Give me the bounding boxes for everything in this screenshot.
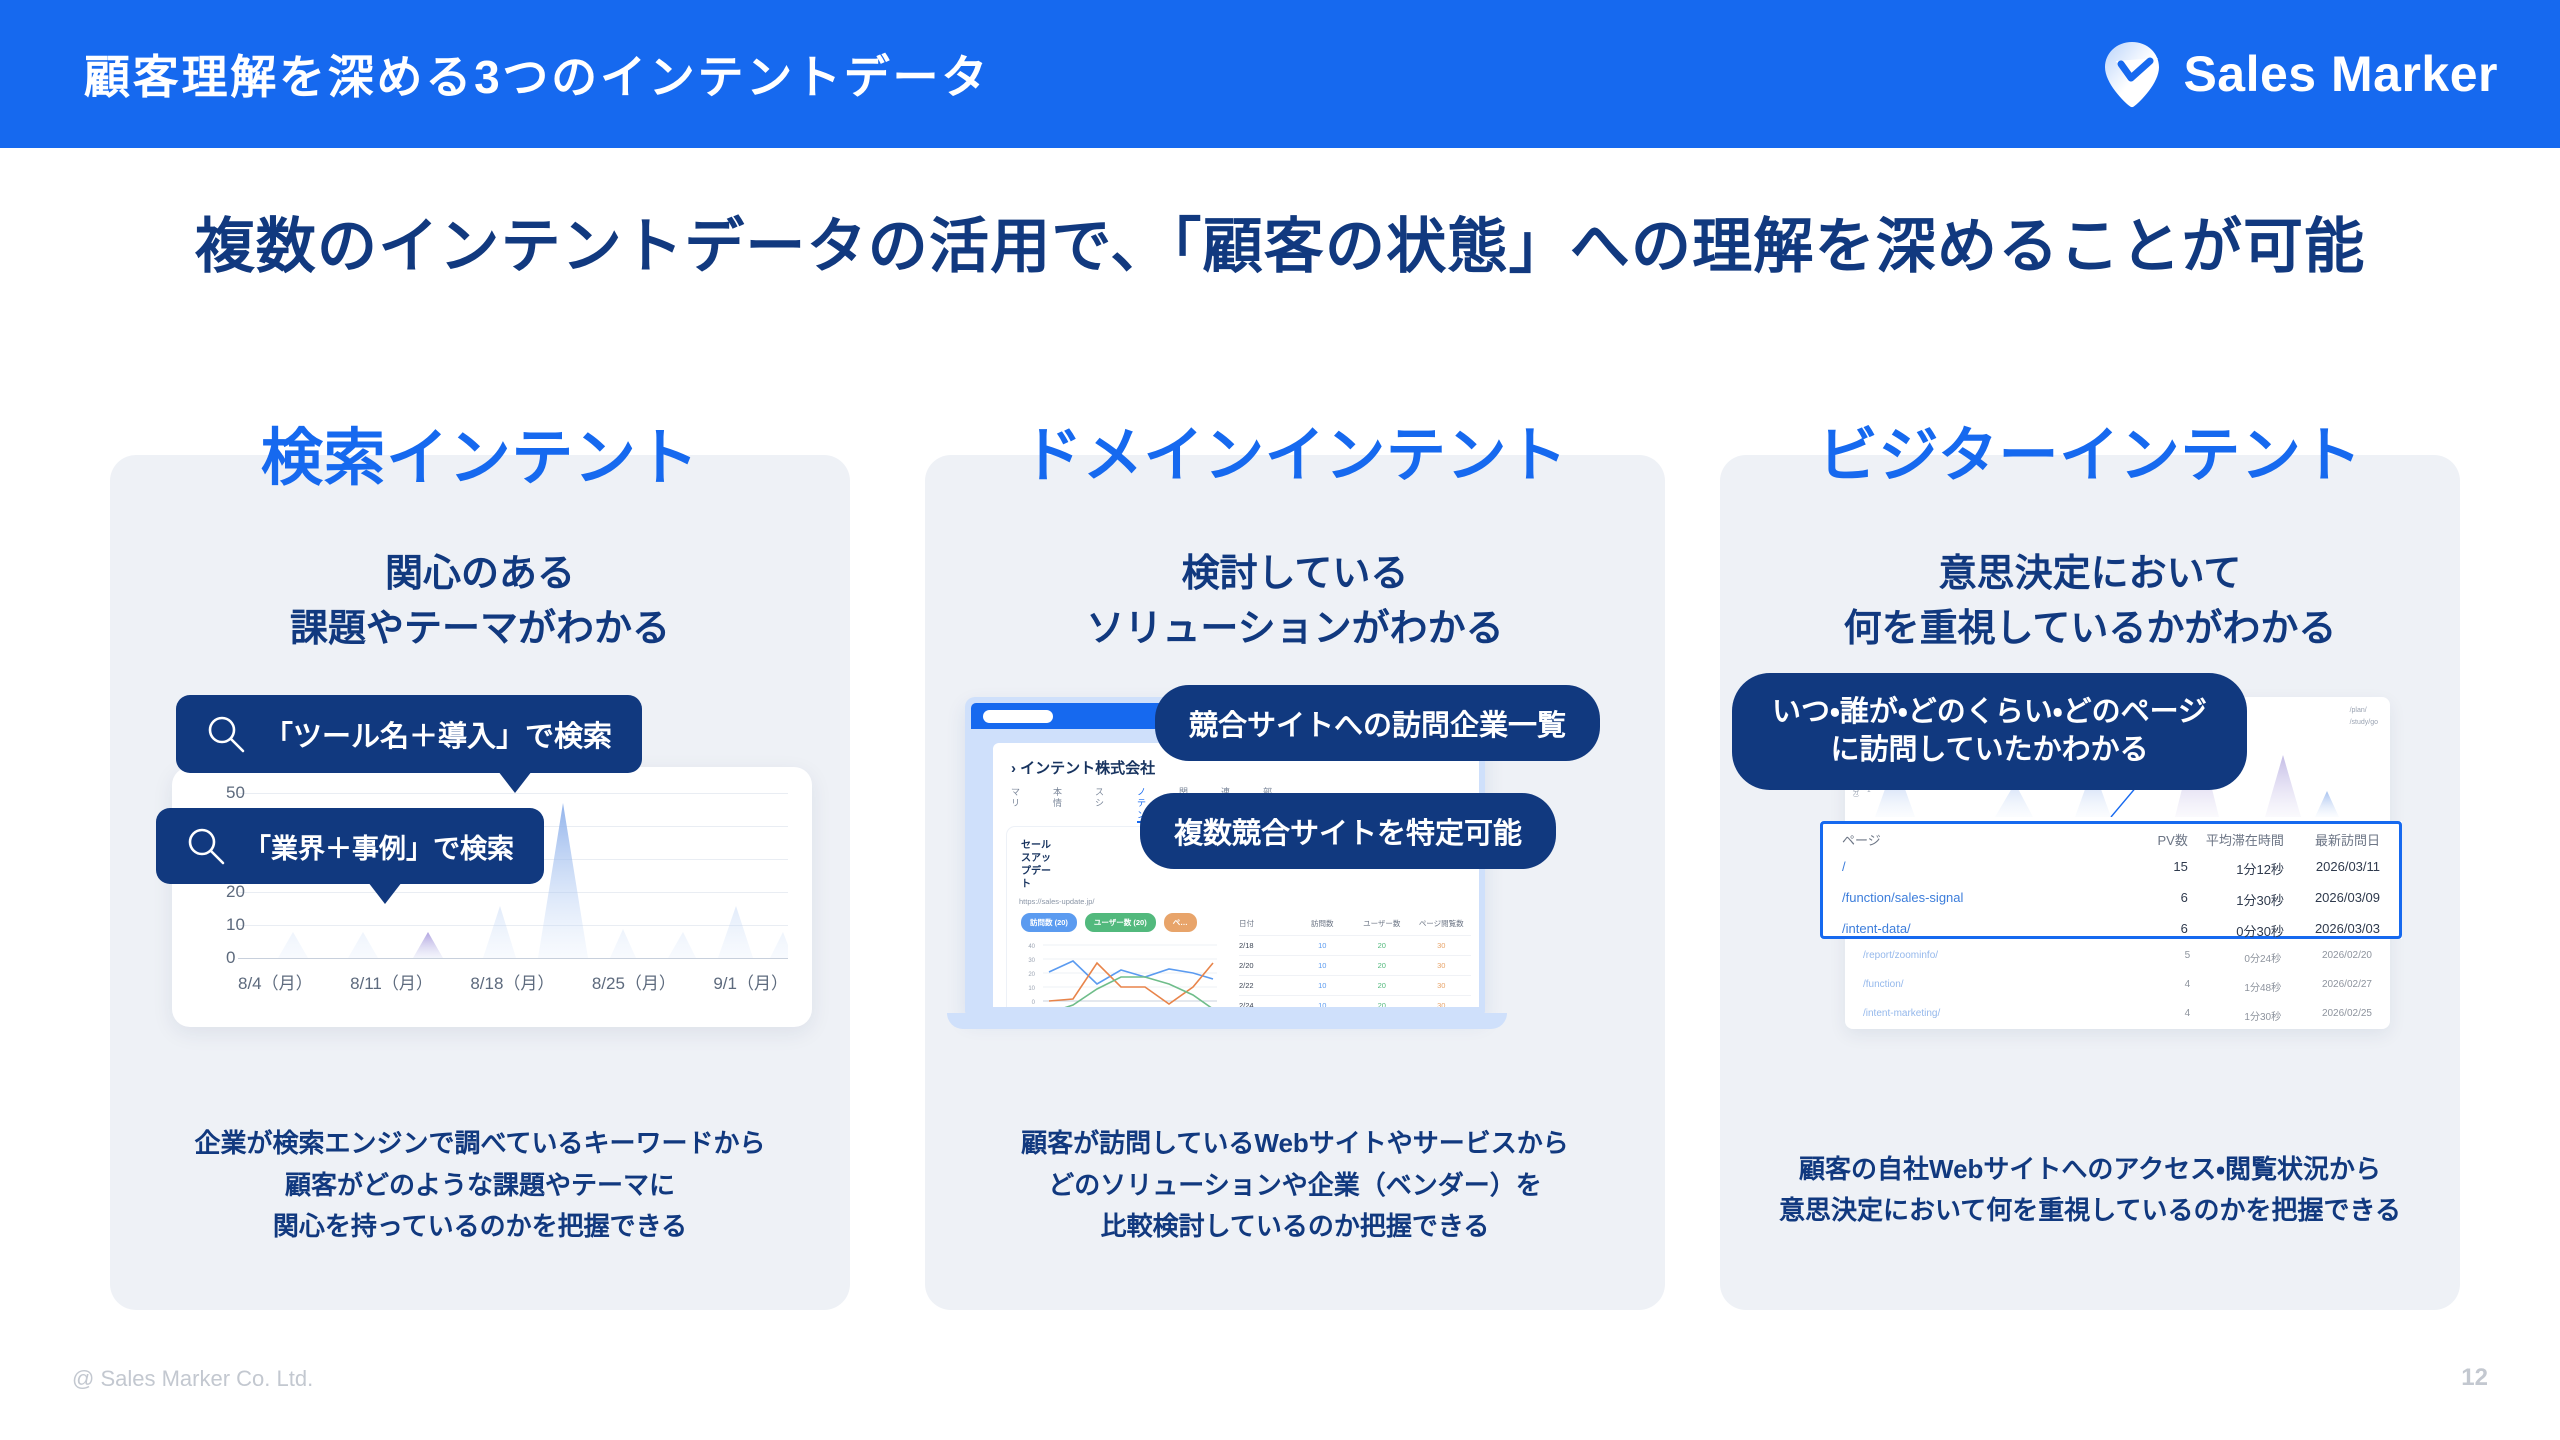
magnifier-icon xyxy=(206,714,246,754)
table-row: /function/41分48秒2026/02/27 xyxy=(1845,972,2390,1001)
domain-mock-visual: › インテント株式会社 マリ 本情 スシ ノテン 関 連 部 セールスアップデー… xyxy=(925,685,1665,1055)
table-row: /report/zoominfo/50分24秒2026/02/20 xyxy=(1845,943,2390,972)
x-tick-0: 8/4（月） xyxy=(238,969,313,994)
headline: 複数のインテントデータの活用で、「顧客の状態」への理解を深めることが可能 xyxy=(0,198,2560,285)
svg-text:0: 0 xyxy=(1032,1000,1036,1006)
badge-visitor-detail: いつ・誰が・どのくらい・どのページ に訪問していたかわかる xyxy=(1732,673,2247,790)
mock-tab-2[interactable]: スシ xyxy=(1095,787,1109,823)
brand-name: Sales Marker xyxy=(2183,45,2498,103)
app-screen: › インテント株式会社 マリ 本情 スシ ノテン 関 連 部 セールスアップデー… xyxy=(993,743,1479,1007)
copyright: @ Sales Marker Co. Ltd. xyxy=(72,1366,313,1392)
chart-inner: 50 40 30 20 10 0 xyxy=(172,767,812,1027)
svg-text:40: 40 xyxy=(1028,944,1035,950)
magnifier-icon xyxy=(186,826,226,866)
card-footer-text: 企業が検索エンジンで調べているキーワードから 顧客がどのような課題やテーマに 関… xyxy=(110,1123,850,1248)
chip-visits[interactable]: 訪問数 (20) xyxy=(1021,913,1077,932)
mock-tab-1[interactable]: 本情 xyxy=(1053,787,1067,823)
tooltip-label: 「ツール名＋導入」で検索 xyxy=(264,713,612,755)
laptop-base xyxy=(947,1013,1507,1029)
table-row: 2/20102030 xyxy=(1239,955,1471,975)
svg-text:20: 20 xyxy=(1028,972,1035,978)
col-visits: 訪問数 xyxy=(1293,918,1352,929)
table-row: /intent-data/60分30秒2026/03/03 xyxy=(1820,915,2402,946)
brand-logo: Sales Marker xyxy=(2101,40,2498,108)
search-chart-panel: 50 40 30 20 10 0 xyxy=(172,767,812,1027)
table-row: 2/18102030 xyxy=(1239,935,1471,955)
x-tick-2: 8/18（月） xyxy=(470,969,554,994)
page-title: 顧客理解を深める3つのインテントデータ xyxy=(84,41,990,107)
table-row: 2/22102030 xyxy=(1239,975,1471,995)
col-avg-time: 平均滞在時間 xyxy=(2188,830,2284,849)
col-pv: PV数 xyxy=(2092,830,2188,849)
mock-line-chart: 40 30 20 10 0 2/18 2/20 2/22 xyxy=(1021,939,1221,1007)
table-row: /function/sales-signal61分30秒2026/03/09 xyxy=(1820,884,2402,915)
col-last-visit: 最新訪問日 xyxy=(2284,830,2380,849)
chip-users[interactable]: ユーザー数 (20) xyxy=(1085,913,1156,932)
legend-item-plan: /plan/ xyxy=(2350,705,2378,717)
card-title: ドメインインテント xyxy=(925,407,1665,494)
card-title: 検索インテント xyxy=(110,407,850,497)
table-row: /151分12秒2026/03/11 xyxy=(1820,853,2402,884)
page-number: 12 xyxy=(2461,1364,2488,1392)
highlighted-rows-table: ページ PV数 平均滞在時間 最新訪問日 /151分12秒2026/03/11 … xyxy=(1820,821,2402,939)
slide-header: 顧客理解を深める3つのインテントデータ Sales Marker xyxy=(0,0,2560,148)
card-subtitle: 関心のある 課題やテーマがわかる xyxy=(110,547,850,658)
card-domain-intent: ドメインインテント 検討している ソリューションがわかる › インテント株式会社… xyxy=(925,455,1665,1310)
chip-pageviews[interactable]: ペ… xyxy=(1164,913,1197,932)
highlighted-table-header: ページ PV数 平均滞在時間 最新訪問日 xyxy=(1820,821,2402,853)
badge-multi-competitor: 複数競合サイトを特定可能 xyxy=(1140,793,1556,869)
col-pageviews: ページ閲覧数 xyxy=(1412,918,1471,929)
x-tick-3: 8/25（月） xyxy=(592,969,676,994)
cards-row: 検索インテント 関心のある 課題やテーマがわかる 50 40 30 xyxy=(0,455,2560,1315)
table-header-row: 日付 訪問数 ユーザー数 ページ閲覧数 xyxy=(1239,915,1471,935)
mock-site-name: セールスアップデート xyxy=(1021,839,1057,891)
table-row: /intent-marketing/41分30秒2026/02/25 xyxy=(1845,1001,2390,1029)
slide: 顧客理解を深める3つのインテントデータ Sales Marker 複数のインテン… xyxy=(0,0,2560,1440)
col-users: ユーザー数 xyxy=(1352,918,1411,929)
x-tick-1: 8/11（月） xyxy=(350,969,433,994)
mock-data-table: 日付 訪問数 ユーザー数 ページ閲覧数 2/18102030 2/2010203… xyxy=(1239,915,1471,1007)
svg-text:30: 30 xyxy=(1028,958,1035,964)
x-tick-4: 9/1（月） xyxy=(713,969,788,994)
table-row: 2/24102030 xyxy=(1239,995,1471,1007)
tooltip-label: 「業界＋事例」で検索 xyxy=(244,827,514,866)
mock-tab-0[interactable]: マリ xyxy=(1011,787,1025,823)
card-footer-text: 顧客の自社Webサイトへのアクセス・閲覧状況から 意思決定において何を重視してい… xyxy=(1720,1149,2460,1232)
tooltip-tool-install: 「ツール名＋導入」で検索 xyxy=(176,695,642,773)
card-title: ビジターインテント xyxy=(1720,407,2460,494)
mock-company-name: › インテント株式会社 xyxy=(1011,757,1155,778)
card-subtitle: 意思決定において 何を重視しているかがわかる xyxy=(1720,547,2460,658)
map-pin-check-icon xyxy=(2101,40,2163,108)
col-page: ページ xyxy=(1842,830,2092,849)
x-axis-labels: 8/4（月） 8/11（月） 8/18（月） 8/25（月） 9/1（月） xyxy=(238,969,788,994)
badge-competitor-visitors: 競合サイトへの訪問企業一覧 xyxy=(1155,685,1600,761)
mock-metric-chips: 訪問数 (20) ユーザー数 (20) ペ… xyxy=(1021,913,1197,932)
card-subtitle: 検討している ソリューションがわかる xyxy=(925,547,1665,658)
svg-text:10: 10 xyxy=(1028,986,1035,992)
card-footer-text: 顧客が訪問しているWebサイトやサービスから どのソリューションや企業（ベンダー… xyxy=(925,1123,1665,1248)
card-search-intent: 検索インテント 関心のある 課題やテーマがわかる 50 40 30 xyxy=(110,455,850,1310)
search-chart-visual: 50 40 30 20 10 0 xyxy=(110,695,850,1045)
col-date: 日付 xyxy=(1239,918,1293,929)
mock-site-url: https://sales-update.jp/ xyxy=(1019,897,1094,906)
visitor-analytics-visual: /plan/ /study/go 平均滞在時間（分） 3 2 1 xyxy=(1720,673,2460,1073)
tooltip-industry-case: 「業界＋事例」で検索 xyxy=(156,808,544,884)
card-visitor-intent: ビジターインテント 意思決定において 何を重視しているかがわかる /plan/ … xyxy=(1720,455,2460,1310)
